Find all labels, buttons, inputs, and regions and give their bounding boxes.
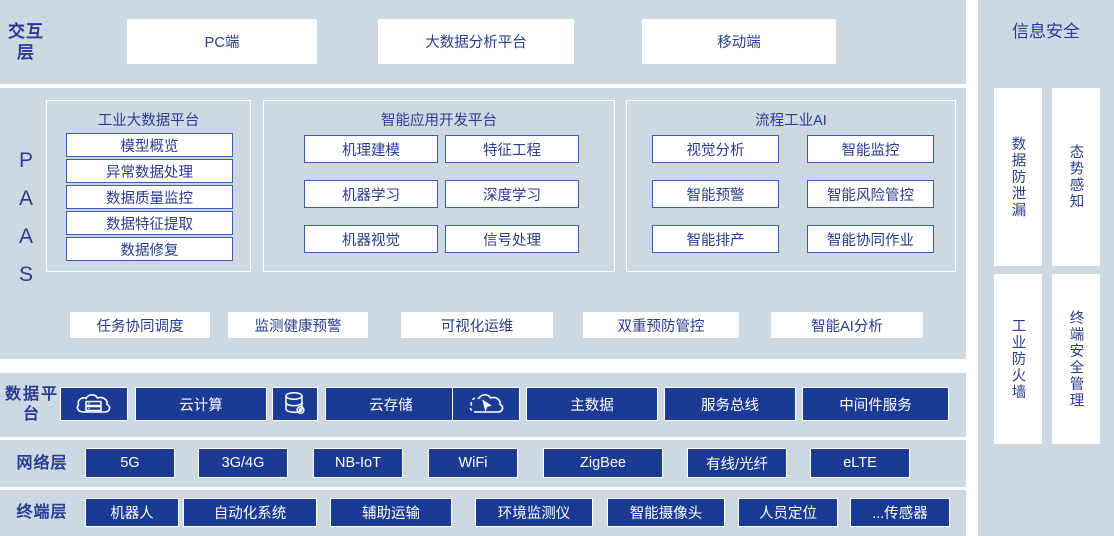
network-chip-3g4g[interactable]: 3G/4G: [198, 448, 288, 478]
interaction-item-mobile[interactable]: 移动端: [642, 19, 836, 64]
paas-cell-smart-scheduling[interactable]: 智能排产: [652, 225, 779, 253]
paas-cell-machine-vision[interactable]: 机器视觉: [304, 225, 438, 253]
paas-cell-label: 机理建模: [342, 139, 400, 160]
security-item-label: 终端安全管理: [1066, 310, 1087, 409]
data-platform-chip-label: 云存储: [369, 394, 413, 415]
security-item-industrial-firewall[interactable]: 工业防火墙: [994, 274, 1042, 444]
paas-bigdata-label: 双重预防管控: [618, 315, 705, 336]
interaction-layer-label: 交互层: [4, 0, 48, 84]
paas-bigdata-label: 任务协同调度: [97, 315, 184, 336]
interaction-item-label: PC端: [205, 31, 240, 52]
terminal-chip-smart-camera[interactable]: 智能摄像头: [607, 498, 725, 527]
data-platform-chip-service-bus[interactable]: 服务总线: [664, 387, 796, 421]
terminal-chip-env-monitor[interactable]: 环境监测仪: [475, 498, 593, 527]
paas-cell-label: 异常数据处理: [106, 161, 193, 182]
data-platform-chip-cloud-computing[interactable]: 云计算: [135, 387, 267, 421]
paas-layer-label: P A A S: [4, 148, 48, 288]
paas-group-title: 流程工业AI: [627, 109, 955, 130]
paas-cell-label: 数据修复: [121, 239, 179, 260]
security-item-label: 工业防火墙: [1008, 318, 1029, 401]
terminal-chip-label: ...传感器: [872, 502, 928, 523]
interaction-item-label: 移动端: [717, 31, 761, 52]
paas-cell-mechanism-modeling[interactable]: 机理建模: [304, 135, 438, 163]
architecture-diagram: 交互层 PC端 大数据分析平台 移动端 P A A S 工业大数据平台 模型概览…: [0, 0, 1114, 536]
interaction-item-pc[interactable]: PC端: [127, 19, 317, 64]
security-item-data-leak-prevention[interactable]: 数据防泄漏: [994, 88, 1042, 266]
security-sidebar-title: 信息安全: [978, 17, 1114, 42]
terminal-layer-label-text: 终端层: [16, 503, 67, 523]
paas-cell-signal-processing[interactable]: 信号处理: [445, 225, 579, 253]
paas-cell-label: 信号处理: [483, 229, 541, 250]
paas-bigdata-ai-analysis[interactable]: 智能AI分析: [771, 312, 923, 338]
paas-cell-label: 数据质量监控: [106, 187, 193, 208]
security-sidebar: 信息安全 数据防泄漏 态势感知 工业防火墙 终端安全管理: [978, 0, 1114, 536]
data-platform-chip-master-data[interactable]: 主数据: [526, 387, 658, 421]
paas-cell-abnormal-data[interactable]: 异常数据处理: [66, 159, 233, 183]
paas-layer: P A A S 工业大数据平台 模型概览 异常数据处理 数据质量监控 数据特征提…: [0, 88, 966, 359]
terminal-chip-robot[interactable]: 机器人: [85, 498, 179, 527]
paas-cell-label: 深度学习: [483, 184, 541, 205]
terminal-chip-label: 智能摄像头: [630, 502, 703, 523]
cloud-server-icon[interactable]: [60, 387, 128, 421]
paas-cell-data-repair[interactable]: 数据修复: [66, 237, 233, 261]
paas-cell-model-overview[interactable]: 模型概览: [66, 133, 233, 157]
paas-bigdata-label: 可视化运维: [441, 315, 514, 336]
paas-letter: A: [19, 224, 33, 250]
paas-cell-label: 特征工程: [483, 139, 541, 160]
network-chip-elte[interactable]: eLTE: [810, 448, 910, 478]
paas-cell-label: 智能协同作业: [827, 229, 914, 250]
data-platform-layer-label-text: 数据平台: [4, 385, 60, 425]
data-platform-chip-label: 主数据: [570, 394, 614, 415]
data-platform-layer-label: 数据平台: [4, 373, 60, 437]
paas-group-title: 工业大数据平台: [47, 109, 250, 130]
paas-bigdata-label: 监测健康预警: [255, 315, 342, 336]
paas-cell-label: 机器学习: [342, 184, 400, 205]
paas-cell-label: 数据特征提取: [106, 213, 193, 234]
paas-cell-label: 视觉分析: [687, 139, 745, 160]
network-chip-wired-fiber[interactable]: 有线/光纤: [687, 448, 787, 478]
terminal-chip-label: 人员定位: [759, 502, 817, 523]
paas-bigdata-health-warning[interactable]: 监测健康预警: [228, 312, 368, 338]
paas-cell-label: 智能排产: [687, 229, 745, 250]
network-chip-label: eLTE: [843, 455, 877, 471]
interaction-item-bigdata[interactable]: 大数据分析平台: [378, 19, 574, 64]
network-chip-label: NB-IoT: [335, 455, 381, 471]
paas-cell-visual-analysis[interactable]: 视觉分析: [652, 135, 779, 163]
paas-group-process-ai: 流程工业AI 视觉分析 智能监控 智能预警 智能风险管控 智能排产 智能协同作业: [626, 100, 956, 272]
terminal-chip-label: 机器人: [110, 502, 154, 523]
interaction-item-label: 大数据分析平台: [425, 31, 527, 52]
data-platform-chip-middleware[interactable]: 中间件服务: [802, 387, 949, 421]
terminal-chip-label: 自动化系统: [214, 502, 287, 523]
cloud-cursor-icon[interactable]: [452, 387, 520, 421]
paas-group-title: 智能应用开发平台: [264, 109, 614, 130]
network-chip-5g[interactable]: 5G: [85, 448, 175, 478]
paas-bigdata-task-scheduling[interactable]: 任务协同调度: [70, 312, 210, 338]
paas-cell-label: 机器视觉: [342, 229, 400, 250]
data-platform-chip-label: 服务总线: [701, 394, 759, 415]
network-chip-wifi[interactable]: WiFi: [428, 448, 518, 478]
security-item-terminal-security[interactable]: 终端安全管理: [1052, 274, 1100, 444]
terminal-chip-automation[interactable]: 自动化系统: [183, 498, 317, 527]
paas-bigdata-visual-ops[interactable]: 可视化运维: [401, 312, 553, 338]
terminal-chip-aux-transport[interactable]: 辅助运输: [330, 498, 452, 527]
paas-group-industrial-bigdata: 工业大数据平台 模型概览 异常数据处理 数据质量监控 数据特征提取 数据修复: [46, 100, 251, 272]
database-gear-icon[interactable]: [272, 387, 318, 421]
network-layer-label: 网络层: [4, 440, 80, 487]
paas-group-app-dev: 智能应用开发平台 机理建模 特征工程 机器学习 深度学习 机器视觉 信号处理: [263, 100, 615, 272]
paas-letter: S: [19, 262, 33, 288]
paas-cell-feature-extract[interactable]: 数据特征提取: [66, 211, 233, 235]
network-layer: 网络层 5G 3G/4G NB-IoT WiFi ZigBee 有线/光纤 eL…: [0, 440, 966, 487]
paas-cell-label: 模型概览: [121, 135, 179, 156]
terminal-layer-label: 终端层: [4, 490, 80, 536]
paas-cell-label: 智能预警: [687, 184, 745, 205]
network-chip-label: ZigBee: [580, 455, 626, 471]
terminal-layer: 终端层 机器人 自动化系统 辅助运输 环境监测仪 智能摄像头 人员定位 ...传…: [0, 490, 966, 536]
terminal-chip-label: 辅助运输: [362, 502, 420, 523]
paas-letter: A: [19, 186, 33, 212]
terminal-chip-label: 环境监测仪: [498, 502, 571, 523]
network-chip-label: 3G/4G: [222, 455, 265, 471]
paas-cell-machine-learning[interactable]: 机器学习: [304, 180, 438, 208]
interaction-layer: 交互层 PC端 大数据分析平台 移动端: [0, 0, 966, 84]
paas-cell-label: 智能监控: [842, 139, 900, 160]
network-chip-zigbee[interactable]: ZigBee: [543, 448, 663, 478]
paas-cell-deep-learning[interactable]: 深度学习: [445, 180, 579, 208]
network-layer-label-text: 网络层: [16, 454, 67, 474]
paas-cell-label: 智能风险管控: [827, 184, 914, 205]
network-chip-label: 5G: [120, 455, 139, 471]
paas-letter: P: [19, 148, 33, 174]
network-chip-label: WiFi: [459, 455, 488, 471]
network-chip-label: 有线/光纤: [706, 453, 768, 474]
terminal-chip-personnel-location[interactable]: 人员定位: [738, 498, 838, 527]
paas-cell-collaborative-work[interactable]: 智能协同作业: [807, 225, 934, 253]
security-item-label: 态势感知: [1066, 144, 1087, 210]
interaction-layer-label-text: 交互层: [4, 21, 48, 64]
paas-cell-smart-monitoring[interactable]: 智能监控: [807, 135, 934, 163]
paas-bigdata-dual-prevention[interactable]: 双重预防管控: [583, 312, 739, 338]
paas-cell-data-quality[interactable]: 数据质量监控: [66, 185, 233, 209]
paas-cell-smart-warning[interactable]: 智能预警: [652, 180, 779, 208]
data-platform-layer: 数据平台 云计算 云存储: [0, 373, 966, 437]
data-platform-chip-label: 中间件服务: [839, 394, 912, 415]
terminal-chip-sensors[interactable]: ...传感器: [850, 498, 950, 527]
network-chip-nbiot[interactable]: NB-IoT: [313, 448, 403, 478]
data-platform-chip-label: 云计算: [179, 394, 223, 415]
paas-cell-feature-engineering[interactable]: 特征工程: [445, 135, 579, 163]
security-item-situational-awareness[interactable]: 态势感知: [1052, 88, 1100, 266]
security-item-label: 数据防泄漏: [1008, 136, 1029, 219]
paas-bigdata-label: 智能AI分析: [811, 315, 883, 336]
data-platform-chip-cloud-storage[interactable]: 云存储: [325, 387, 457, 421]
paas-cell-risk-control[interactable]: 智能风险管控: [807, 180, 934, 208]
